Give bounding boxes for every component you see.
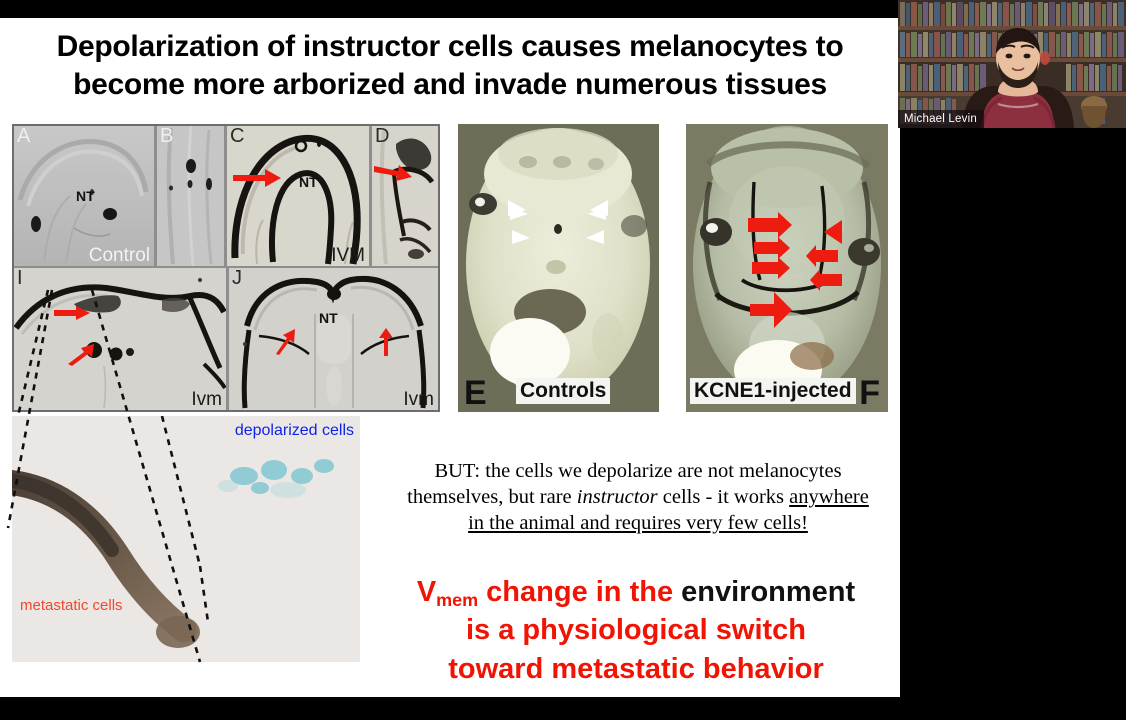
panel-D: D [372,126,438,266]
panel-letter-D: D [375,126,389,147]
panel-C-nt-label: NT [299,174,318,190]
panel-J-caption: Ivm [403,389,434,410]
explanatory-text-line-1: BUT: the cells we depolarize are not mel… [382,458,894,484]
photo-caption-F: KCNE1-injected [690,378,856,404]
vmem-subscript: mem [436,590,478,610]
vmem-v: V [417,576,436,608]
label-metastatic-cells: metastatic cells [20,597,123,614]
panel-A: A NT Control [14,126,154,266]
conclusion-line-3: toward metastatic behavior [372,650,900,688]
explanatory-text-line-3-underline: in the animal and requires very few cell… [468,512,808,534]
conclusion-line-1-black: environment [681,576,855,608]
panel-J: J NT Ivm [229,268,438,410]
webcam-participant-name: Michael Levin [898,110,984,128]
photo-panel-E-controls: E Controls [458,124,659,412]
explanatory-text-line-2-part-b: cells - it works [658,486,790,508]
conclusion-line-1: Vmem change in the environment [372,573,900,611]
explanatory-text-line-2-part-a: themselves, but rare [407,486,577,508]
conclusion-text-block: Vmem change in the environment is a phys… [372,573,900,688]
panel-B: B [157,126,224,266]
screen-root: Depolarization of instructor cells cause… [0,0,1126,720]
slide-title-line-1: Depolarization of instructor cells cause… [57,30,844,63]
conclusion-line-1-red: change in the [478,576,681,608]
panel-I-caption: Ivm [191,389,222,410]
explanatory-text-line-3: in the animal and requires very few cell… [382,510,894,536]
panel-grid-row-bottom: I Ivm [14,268,438,410]
panel-A-nt-label: NT [76,188,95,204]
panel-C-caption: IVM [331,245,365,266]
slide-title: Depolarization of instructor cells cause… [10,28,890,104]
panel-C: C NT IVM [227,126,369,266]
label-depolarized-cells: depolarized cells [235,422,354,440]
panel-letter-B: B [160,126,173,147]
panel-A-caption: Control [89,245,150,266]
panel-letter-A: A [17,126,30,147]
photo-panel-F-kcne1: F KCNE1-injected [686,124,888,412]
photo-caption-E: Controls [516,378,610,404]
panel-grid-row-top: A NT Control B [14,126,438,266]
webcam-video-tile[interactable]: Michael Levin [898,0,1126,128]
inset-metastatic-cells-image: depolarized cells metastatic cells [12,416,360,662]
explanatory-text-instructor-italic: instructor [577,486,658,508]
micrograph-panel-grid: A NT Control B [12,124,440,412]
explanatory-text-block: BUT: the cells we depolarize are not mel… [382,458,894,536]
panel-letter-C: C [230,126,244,147]
panel-letter-I: I [17,268,23,289]
panel-J-nt-label: NT [319,310,338,326]
panel-letter-J: J [232,268,242,289]
explanatory-text-anywhere-underline: anywhere [789,486,869,508]
panel-I: I Ivm [14,268,226,410]
presentation-slide: Depolarization of instructor cells cause… [0,18,900,697]
explanatory-text-line-2: themselves, but rare instructor cells - … [382,484,894,510]
photo-letter-F: F [859,376,880,410]
slide-title-line-2: become more arborized and invade numerou… [73,68,827,101]
photo-letter-E: E [464,376,487,410]
conclusion-line-2: is a physiological switch [372,611,900,649]
